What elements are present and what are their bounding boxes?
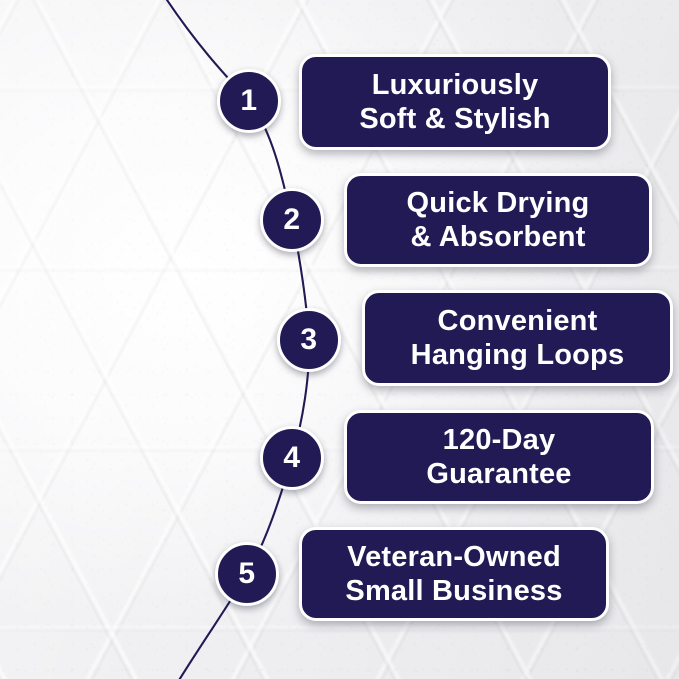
- step-badge-number: 1: [240, 86, 257, 116]
- step-badge-3[interactable]: 3: [277, 308, 341, 372]
- feature-text-line: 120-Day: [443, 423, 556, 457]
- feature-box-quick-drying-absorbent[interactable]: Quick Drying& Absorbent: [344, 173, 652, 267]
- feature-text-line: Quick Drying: [407, 186, 590, 220]
- feature-text-line: Guarantee: [426, 457, 571, 491]
- feature-infographic: 12345 LuxuriouslySoft & StylishQuick Dry…: [0, 0, 679, 679]
- step-badge-number: 2: [283, 205, 300, 235]
- step-badge-4[interactable]: 4: [260, 426, 324, 490]
- step-badge-number: 4: [283, 443, 300, 473]
- feature-box-120-day-guarantee[interactable]: 120-DayGuarantee: [344, 410, 654, 504]
- feature-text-line: Small Business: [345, 574, 562, 608]
- step-badge-2[interactable]: 2: [260, 188, 324, 252]
- feature-box-convenient-hanging-loops[interactable]: ConvenientHanging Loops: [362, 290, 673, 386]
- feature-box-luxuriously-soft-stylish[interactable]: LuxuriouslySoft & Stylish: [299, 54, 611, 150]
- step-badge-number: 3: [300, 325, 317, 355]
- feature-text-line: Hanging Loops: [411, 338, 625, 372]
- feature-text-line: Luxuriously: [372, 68, 539, 102]
- step-badge-number: 5: [238, 559, 255, 589]
- feature-text-line: Veteran-Owned: [347, 540, 561, 574]
- step-badge-1[interactable]: 1: [217, 69, 281, 133]
- feature-text-line: Convenient: [438, 304, 598, 338]
- feature-text-line: & Absorbent: [410, 220, 585, 254]
- feature-box-veteran-owned-small-business[interactable]: Veteran-OwnedSmall Business: [299, 527, 609, 621]
- step-badge-5[interactable]: 5: [215, 542, 279, 606]
- feature-text-line: Soft & Stylish: [359, 102, 550, 136]
